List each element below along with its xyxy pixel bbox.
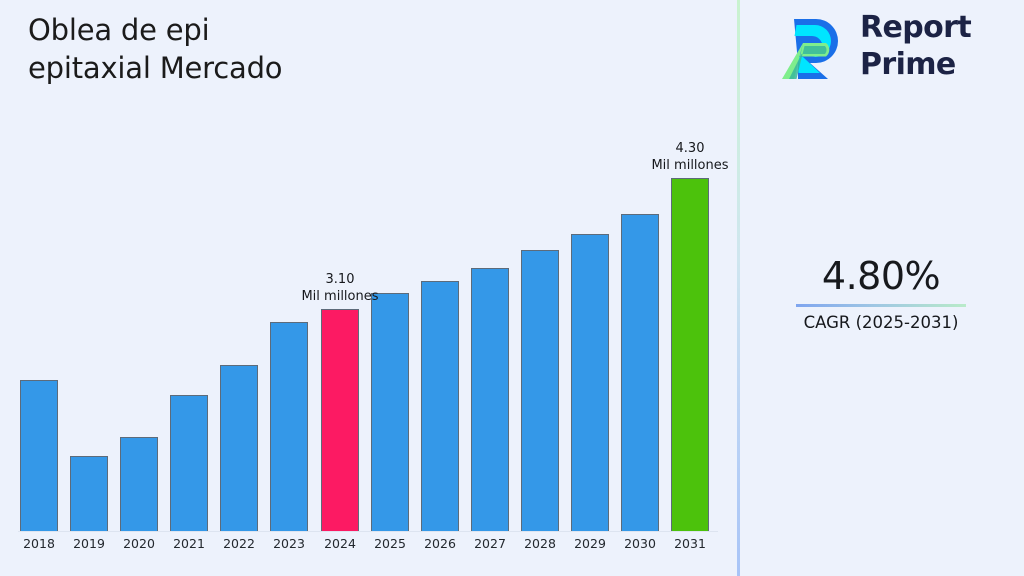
x-tick-2020: 2020 [120, 536, 158, 551]
x-tick-2029: 2029 [571, 536, 609, 551]
page-title: Oblea de epi epitaxial Mercado [28, 11, 718, 88]
bar-2021[interactable] [170, 395, 208, 531]
bar-2024[interactable] [321, 309, 359, 531]
bar-2031[interactable] [671, 178, 709, 531]
bar-2026[interactable] [421, 281, 459, 531]
x-tick-2030: 2030 [621, 536, 659, 551]
x-tick-2021: 2021 [170, 536, 208, 551]
x-tick-2022: 2022 [220, 536, 258, 551]
x-axis-baseline [18, 531, 718, 532]
x-tick-2027: 2027 [471, 536, 509, 551]
bar-2019[interactable] [70, 456, 108, 531]
brand-name: Report Prime [860, 10, 971, 83]
x-tick-2026: 2026 [421, 536, 459, 551]
x-tick-2019: 2019 [70, 536, 108, 551]
bar-2022[interactable] [220, 365, 258, 531]
x-tick-2025: 2025 [371, 536, 409, 551]
bar-2029[interactable] [571, 234, 609, 531]
bar-2020[interactable] [120, 437, 158, 531]
x-tick-2024: 2024 [321, 536, 359, 551]
bar-2023[interactable] [270, 322, 308, 531]
report-prime-logo-mark-icon [776, 13, 848, 85]
bar-2030[interactable] [621, 214, 659, 531]
bar-2028[interactable] [521, 250, 559, 531]
x-tick-2028: 2028 [521, 536, 559, 551]
x-tick-2023: 2023 [270, 536, 308, 551]
bar-2018[interactable] [20, 380, 58, 531]
cagr-caption: CAGR (2025-2031) [738, 313, 1024, 332]
cagr-block: 4.80% CAGR (2025-2031) [738, 256, 1024, 332]
brand-logo: Report Prime [776, 10, 1004, 88]
x-tick-2031: 2031 [671, 536, 709, 551]
data-label-2031: 4.30 Mil millones [615, 141, 765, 174]
cagr-divider [796, 304, 966, 307]
data-label-2024: 3.10 Mil millones [265, 272, 415, 305]
bar-2025[interactable] [371, 293, 409, 531]
x-tick-2018: 2018 [20, 536, 58, 551]
bar-2027[interactable] [471, 268, 509, 531]
cagr-value: 4.80% [738, 256, 1024, 296]
